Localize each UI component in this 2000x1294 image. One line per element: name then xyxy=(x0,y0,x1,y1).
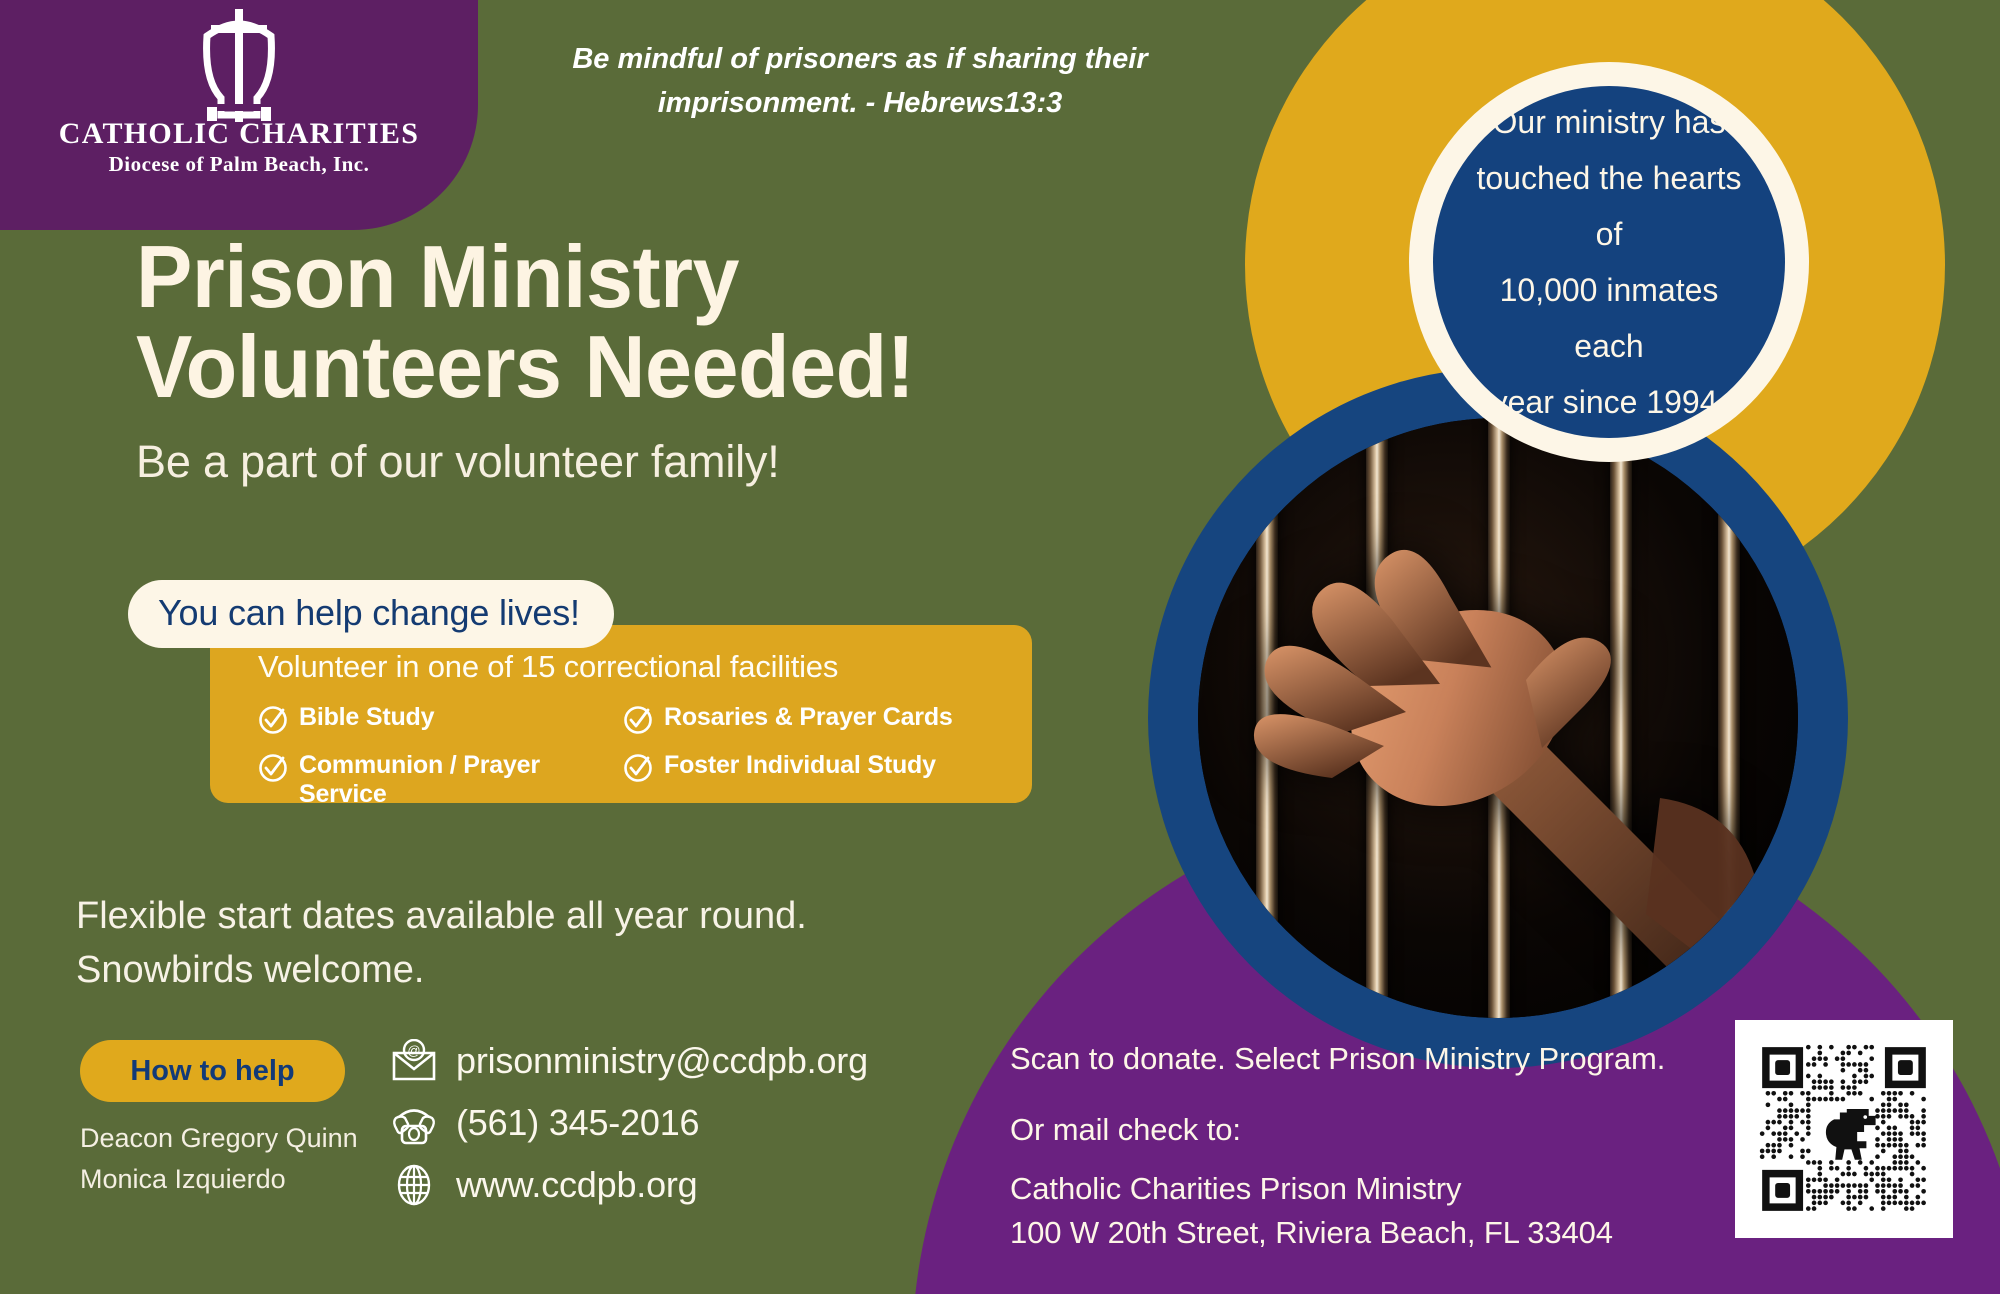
contact-channels: @ prisonministry@ccdpb.org (561) 345-201… xyxy=(390,1030,868,1216)
headline-block: Prison Ministry Volunteers Needed! Be a … xyxy=(136,232,1146,488)
contact-name: Monica Izquierdo xyxy=(80,1159,358,1200)
logo-line-1: CATHOLIC CHARITIES xyxy=(0,118,478,150)
organization-logo-block: CATHOLIC CHARITIES Diocese of Palm Beach… xyxy=(0,0,478,230)
qr-code-icon[interactable] xyxy=(1735,1020,1953,1238)
how-to-help-button[interactable]: How to help xyxy=(80,1040,345,1102)
email-envelope-icon: @ xyxy=(390,1039,438,1083)
opportunity-label: Foster Individual Study xyxy=(664,751,936,780)
flexible-dates-note: Flexible start dates available all year … xyxy=(76,890,807,998)
globe-icon xyxy=(390,1161,438,1209)
page-title: Prison Ministry Volunteers Needed! xyxy=(136,232,1106,412)
hand-illustration xyxy=(1208,458,1768,1018)
logo-wordmark: CATHOLIC CHARITIES Diocese of Palm Beach… xyxy=(0,118,478,178)
phone-value: (561) 345-2016 xyxy=(456,1102,699,1144)
opportunity-label: Communion / Prayer Service xyxy=(299,751,623,808)
logo-line-2: Diocese of Palm Beach, Inc. xyxy=(0,150,478,178)
chalice-cross-icon xyxy=(178,6,300,124)
check-circle-icon xyxy=(258,705,288,735)
contact-names: Deacon Gregory Quinn Monica Izquierdo xyxy=(80,1118,358,1200)
page-subtitle: Be a part of our volunteer family! xyxy=(136,436,1146,488)
statistic-badge-inner: Our ministry has touched the hearts of 1… xyxy=(1433,86,1785,438)
photo-ring xyxy=(1148,368,1848,1068)
contact-email-row[interactable]: @ prisonministry@ccdpb.org xyxy=(390,1030,868,1092)
telephone-icon xyxy=(390,1100,438,1146)
help-callout-pill: You can help change lives! xyxy=(128,580,614,648)
opportunity-label: Bible Study xyxy=(299,703,434,732)
donate-org-line: Catholic Charities Prison Ministry xyxy=(1010,1170,1730,1207)
donate-mail-line: Or mail check to: xyxy=(1010,1111,1730,1148)
opportunities-grid: Bible Study Rosaries & Prayer Cards Comm… xyxy=(258,703,1032,808)
contact-website-row[interactable]: www.ccdpb.org xyxy=(390,1154,868,1216)
check-circle-icon xyxy=(623,753,653,783)
email-value: prisonministry@ccdpb.org xyxy=(456,1040,868,1082)
check-circle-icon xyxy=(258,753,288,783)
svg-text:@: @ xyxy=(407,1043,420,1058)
opportunity-item: Rosaries & Prayer Cards xyxy=(623,703,1032,735)
how-to-help-label: How to help xyxy=(130,1055,294,1088)
donate-address-line: 100 W 20th Street, Riviera Beach, FL 334… xyxy=(1010,1214,1730,1251)
website-value: www.ccdpb.org xyxy=(456,1164,698,1206)
opportunity-item: Foster Individual Study xyxy=(623,751,1032,808)
opportunity-item: Bible Study xyxy=(258,703,623,735)
check-circle-icon xyxy=(623,705,653,735)
qr-code-graphic xyxy=(1751,1036,1937,1222)
help-callout-text: You can help change lives! xyxy=(158,592,580,633)
statistic-badge: Our ministry has touched the hearts of 1… xyxy=(1409,62,1809,462)
scripture-quote: Be mindful of prisoners as if sharing th… xyxy=(500,38,1220,125)
contact-phone-row[interactable]: (561) 345-2016 xyxy=(390,1092,868,1154)
opportunities-panel: Volunteer in one of 15 correctional faci… xyxy=(210,625,1032,803)
opportunity-label: Rosaries & Prayer Cards xyxy=(664,703,953,732)
opportunity-item: Communion / Prayer Service xyxy=(258,751,623,808)
donate-scan-line: Scan to donate. Select Prison Ministry P… xyxy=(1010,1040,1730,1077)
opportunities-lead: Volunteer in one of 15 correctional faci… xyxy=(258,649,1032,685)
prison-bars-photo xyxy=(1198,418,1798,1018)
statistic-badge-text: Our ministry has touched the hearts of 1… xyxy=(1467,94,1751,430)
donate-block: Scan to donate. Select Prison Ministry P… xyxy=(1010,1040,1730,1251)
prison-ministry-flyer: Our ministry has touched the hearts of 1… xyxy=(0,0,2000,1294)
contact-name: Deacon Gregory Quinn xyxy=(80,1118,358,1159)
